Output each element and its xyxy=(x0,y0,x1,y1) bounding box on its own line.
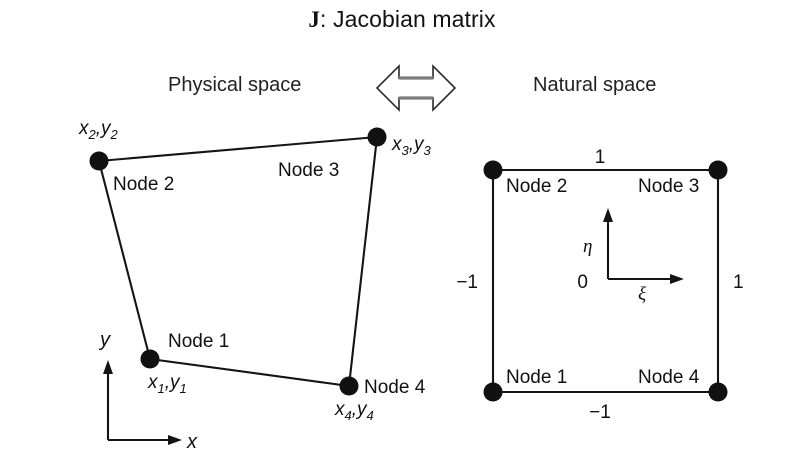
natural-node-1[interactable] xyxy=(484,383,503,402)
natural-space-panel: Node 2 Node 3 Node 1 Node 4 1 −1 −1 1 η … xyxy=(456,147,743,423)
natural-edge-left-value: −1 xyxy=(456,272,478,293)
physical-node-1[interactable] xyxy=(141,350,160,369)
natural-node-4-label: Node 4 xyxy=(638,367,700,388)
xi-axis-label: ξ xyxy=(638,284,647,305)
natural-node-4[interactable] xyxy=(709,383,728,402)
natural-square-edges xyxy=(493,170,718,392)
transform-arrow-icon xyxy=(377,66,455,110)
y-axis-arrowhead xyxy=(103,360,113,374)
diagram-canvas: Node 2 Node 3 Node 1 Node 4 x2,y2 x3,y3 … xyxy=(0,0,804,463)
natural-edge-right-value: 1 xyxy=(733,272,744,293)
natural-origin-label: 0 xyxy=(577,272,588,293)
natural-node-2[interactable] xyxy=(484,161,503,180)
natural-edge-bottom-value: −1 xyxy=(589,402,611,423)
natural-edge-top-value: 1 xyxy=(595,147,606,168)
xi-axis-arrowhead xyxy=(670,274,684,284)
eta-axis-arrowhead xyxy=(603,208,613,222)
physical-node-1-label: Node 1 xyxy=(168,331,229,352)
y-axis-label: y xyxy=(98,329,111,351)
natural-node-3-label: Node 3 xyxy=(638,176,699,197)
jacobian-figure: J: Jacobian matrix Physical space Natura… xyxy=(0,0,804,463)
physical-node-3-coords: x3,y3 xyxy=(391,134,432,158)
physical-node-1-coords: x1,y1 xyxy=(147,372,187,396)
physical-axes xyxy=(108,368,172,440)
natural-node-1-label: Node 1 xyxy=(506,367,567,388)
physical-node-3[interactable] xyxy=(368,128,387,147)
natural-axes xyxy=(608,218,672,279)
x-axis-label: x xyxy=(186,431,198,453)
physical-node-4[interactable] xyxy=(340,377,359,396)
edge-node2-node3 xyxy=(99,137,377,161)
x-axis-arrowhead xyxy=(168,435,182,445)
edge-node3-node4 xyxy=(349,137,377,386)
natural-node-2-label: Node 2 xyxy=(506,176,567,197)
physical-node-2-label: Node 2 xyxy=(113,174,174,195)
physical-node-3-label: Node 3 xyxy=(278,160,339,181)
natural-node-3[interactable] xyxy=(709,161,728,180)
eta-axis-label: η xyxy=(583,236,592,257)
physical-node-2-coords: x2,y2 xyxy=(78,118,119,142)
physical-node-4-coords: x4,y4 xyxy=(334,399,374,423)
physical-node-4-label: Node 4 xyxy=(364,377,426,398)
physical-node-2[interactable] xyxy=(90,152,109,171)
physical-space-panel: Node 2 Node 3 Node 1 Node 4 x2,y2 x3,y3 … xyxy=(78,118,432,453)
